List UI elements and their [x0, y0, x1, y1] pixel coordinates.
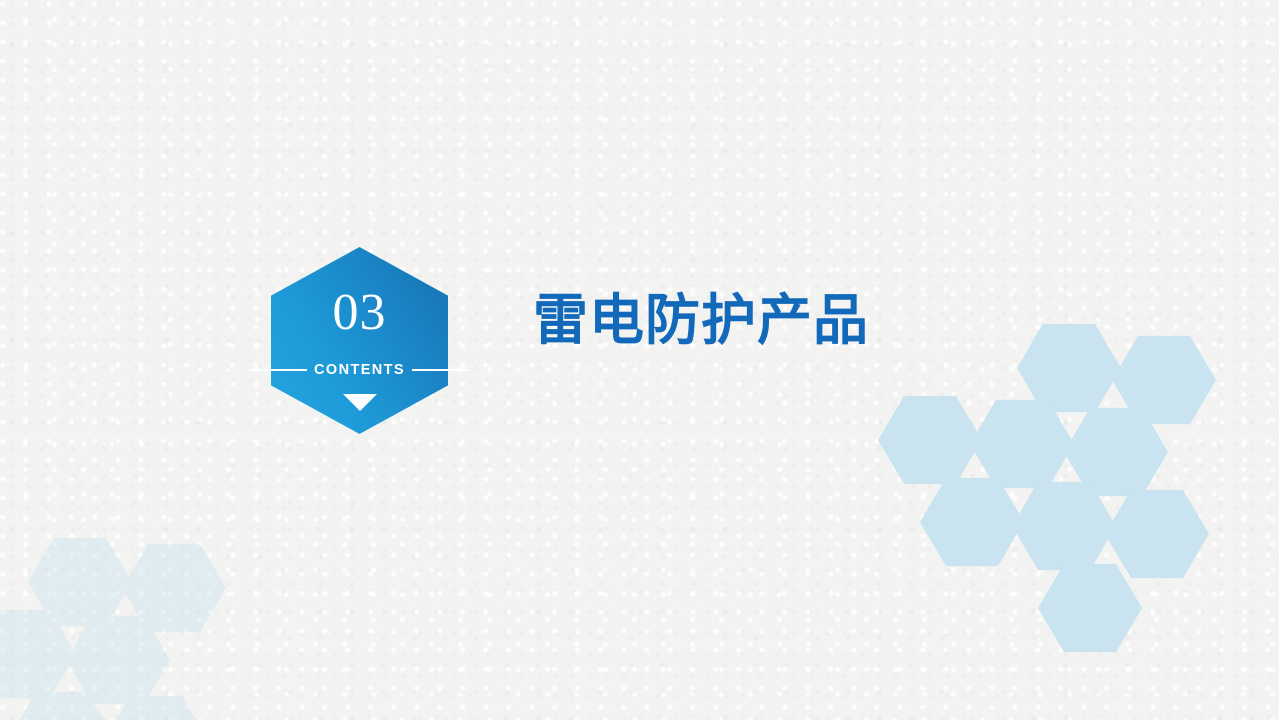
hexagon-decoration — [1012, 480, 1116, 572]
section-badge: 03 CONTENTS — [271, 247, 448, 434]
hexagon-decoration — [920, 476, 1024, 568]
section-title: 雷电防护产品 — [533, 285, 869, 355]
rule-left-icon — [250, 369, 307, 371]
hexagon-decoration — [1017, 322, 1121, 414]
hexagon-decoration — [1038, 562, 1142, 654]
contents-row: CONTENTS — [250, 361, 469, 379]
hexagon-decoration — [66, 614, 170, 706]
honeycomb-cluster-left — [0, 0, 1279, 720]
hexagon-decoration — [970, 398, 1074, 490]
hexagon-decoration — [0, 608, 76, 700]
contents-label: CONTENTS — [307, 362, 412, 378]
section-number: 03 — [271, 287, 448, 339]
hexagon-decoration — [104, 694, 208, 720]
hexagon-decoration — [122, 542, 226, 634]
triangle-down-icon — [343, 394, 377, 411]
hexagon-decoration — [1112, 334, 1216, 426]
background-texture — [0, 0, 1279, 720]
rule-right-icon — [412, 369, 469, 371]
honeycomb-cluster-right — [0, 0, 1279, 720]
hexagon-decoration — [878, 394, 982, 486]
hexagon-decoration — [28, 536, 132, 628]
hexagon-decoration — [1105, 488, 1209, 580]
slide-canvas: 03 CONTENTS 雷电防护产品 — [0, 0, 1279, 720]
hexagon-decoration — [1064, 406, 1168, 498]
hexagon-decoration — [10, 690, 114, 720]
